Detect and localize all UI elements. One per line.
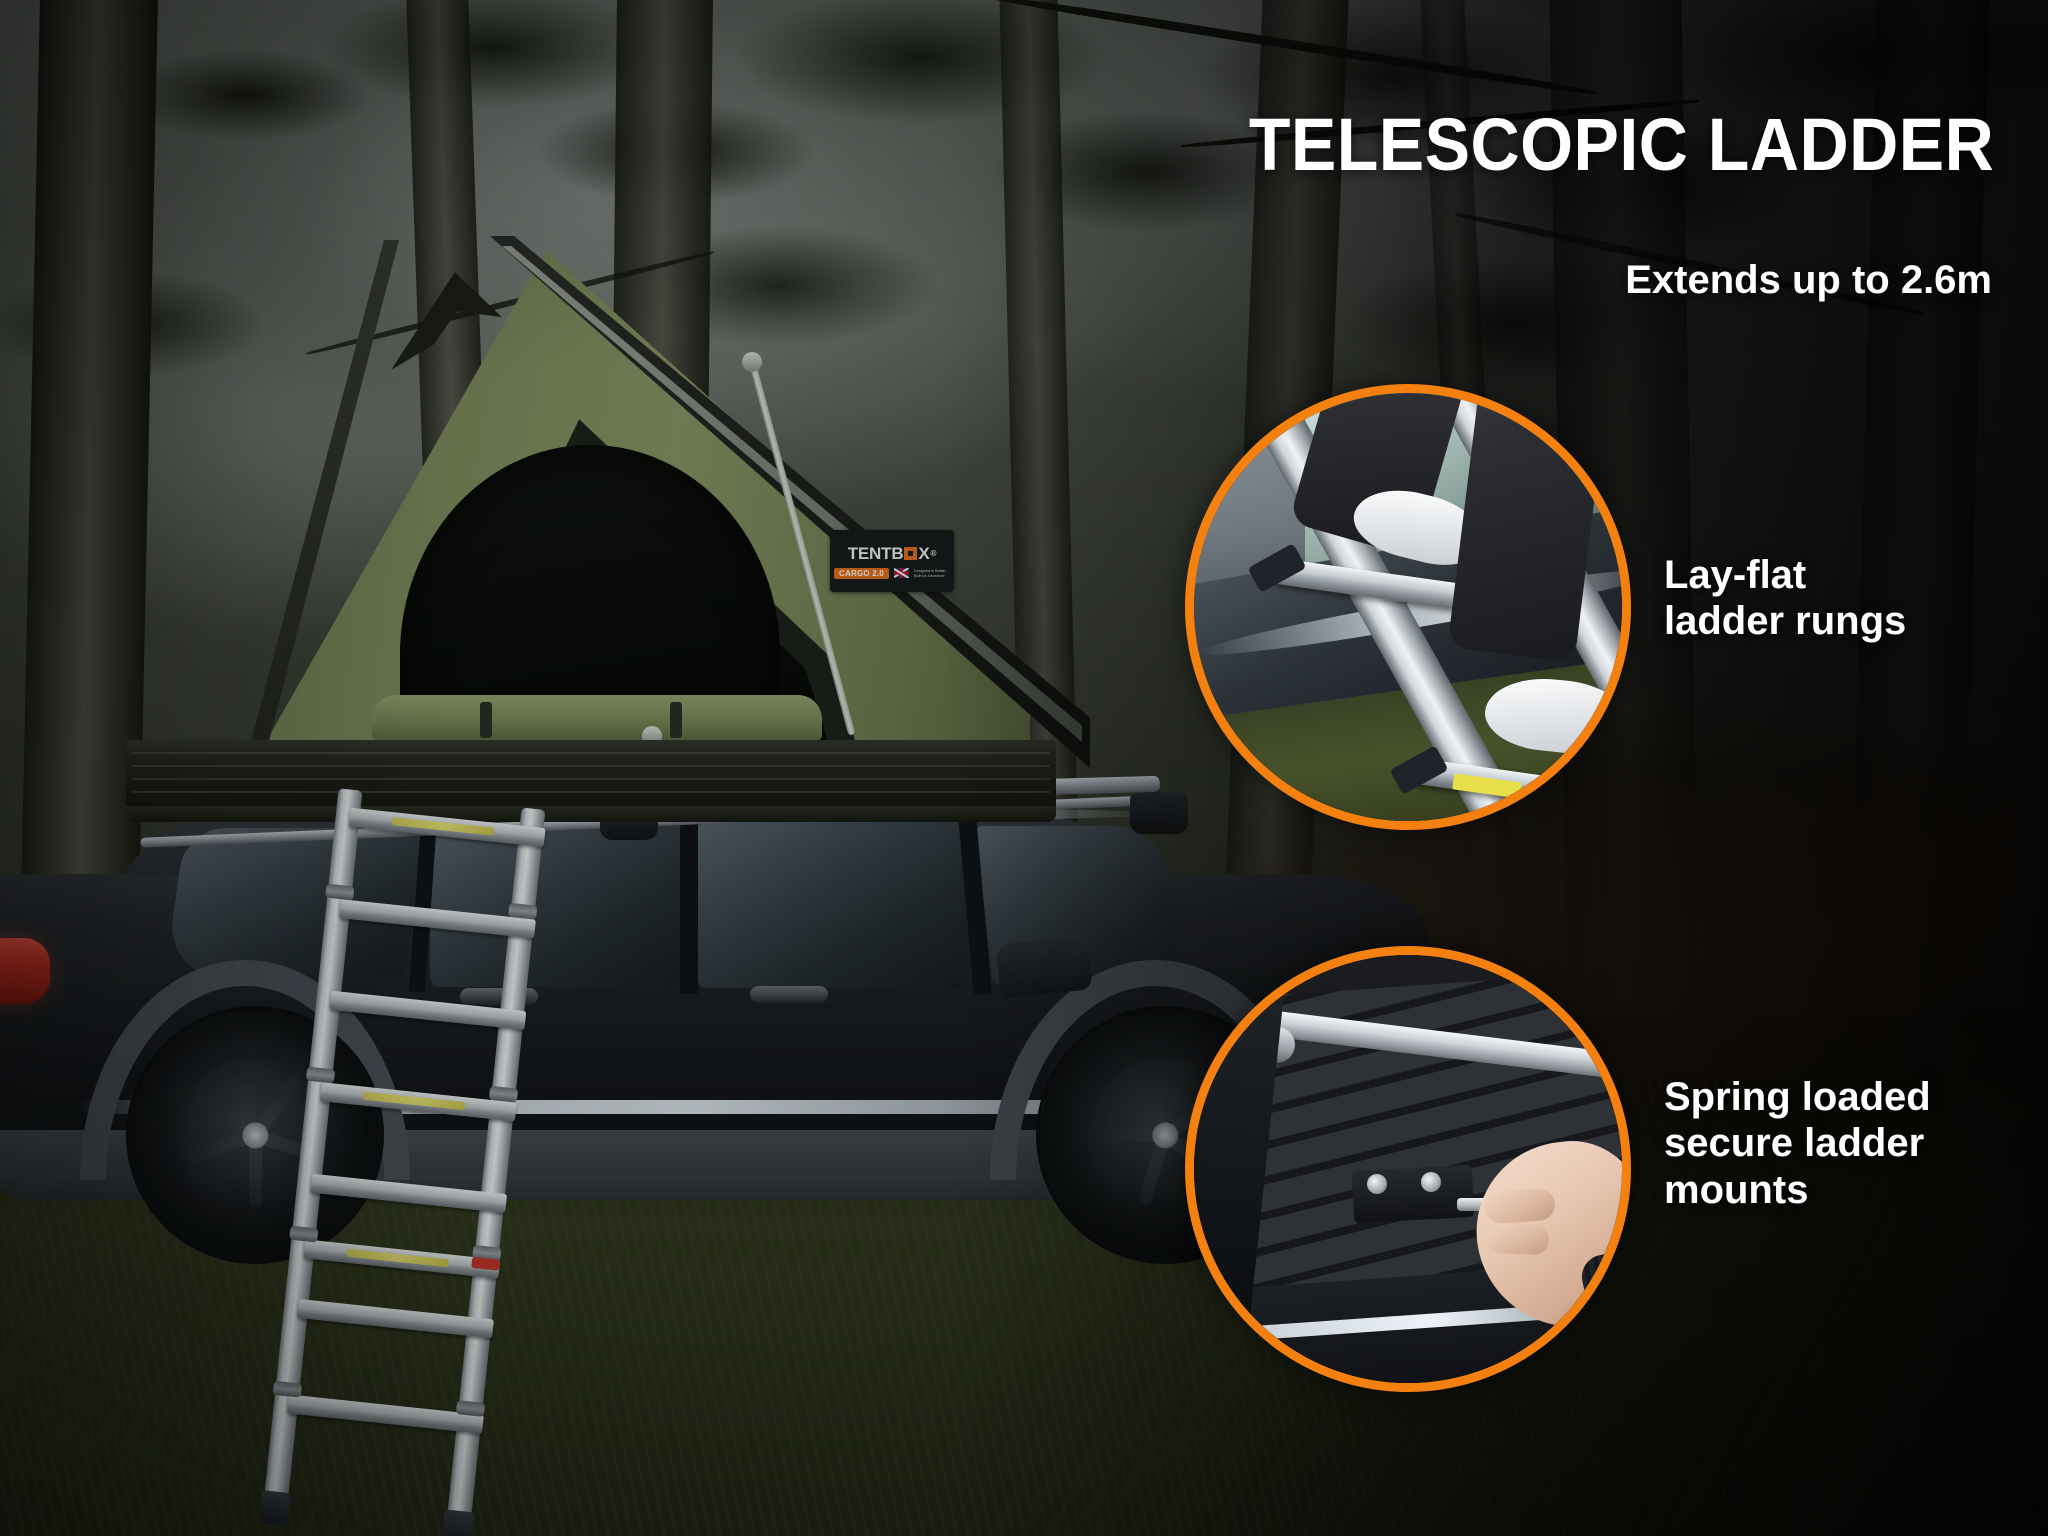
- detail-finger: [1486, 1223, 1549, 1255]
- car-pillar: [680, 818, 698, 994]
- tent-strap: [480, 702, 492, 738]
- union-jack-icon: [894, 568, 909, 578]
- ladder-section-joint: [289, 1226, 318, 1243]
- badge-second-row: CARGO 2.0 Designed in Britain Built for …: [834, 568, 950, 579]
- ladder-section-joint: [456, 1400, 485, 1417]
- model-pill: CARGO 2.0: [834, 568, 889, 579]
- ladder-rung: [320, 1082, 517, 1121]
- callout-photo-ladder-mount: [1185, 946, 1631, 1392]
- shell-ribs: [132, 752, 1050, 804]
- callout-label-lay-flat-rungs: Lay-flat ladder rungs: [1664, 552, 1906, 645]
- flag-cross-horizontal: [894, 572, 909, 575]
- ladder-rung: [297, 1299, 494, 1338]
- tent-strap: [670, 702, 682, 738]
- ladder-rung: [287, 1394, 484, 1433]
- roof-rack-foot: [1130, 792, 1188, 834]
- ladder-rung: [339, 899, 536, 938]
- callout-circle-spring-loaded-mounts: [1185, 946, 1631, 1392]
- page-subtitle: Extends up to 2.6m: [1625, 258, 1992, 303]
- callout-line: mounts: [1664, 1167, 1931, 1213]
- front-door-window: [698, 820, 966, 988]
- strut-mount: [742, 352, 762, 372]
- flag-cross-vertical: [900, 568, 903, 578]
- ladder-rung: [329, 991, 526, 1030]
- page-title: TELESCOPIC LADDER: [1249, 108, 1994, 182]
- ladder-section-joint: [306, 1067, 335, 1084]
- ladder-section-joint: [325, 884, 354, 901]
- ladder-foot: [441, 1509, 474, 1536]
- rung-warning-label: [347, 1249, 449, 1268]
- callout-line: secure ladder: [1664, 1120, 1931, 1166]
- detail-finger: [1484, 1188, 1556, 1225]
- callout-photo-ladder-rungs: [1185, 384, 1631, 830]
- callout-line: ladder rungs: [1664, 598, 1906, 644]
- callout-circle-lay-flat-rungs: [1185, 384, 1631, 830]
- brand-o-square-icon: [904, 547, 917, 560]
- rung-warning-label: [363, 1092, 465, 1111]
- trademark-symbol: ®: [931, 549, 937, 558]
- ladder-section-joint: [508, 903, 537, 920]
- ladder-foot: [258, 1490, 291, 1527]
- detail-mount-bolt: [1421, 1172, 1441, 1192]
- ladder-section-joint: [273, 1381, 302, 1398]
- ladder-rung: [310, 1174, 507, 1213]
- brand-wordmark: TENTB X ®: [848, 544, 937, 564]
- brand-text-right: X: [918, 544, 929, 564]
- badge-micro-text: Designed in Britain Built for Adventure: [914, 568, 950, 578]
- ladder-rung: [303, 1239, 500, 1278]
- wing-mirror: [995, 935, 1092, 998]
- callout-line: Lay-flat: [1664, 552, 1906, 598]
- detail-ladder-mount-bracket: [1352, 1165, 1475, 1223]
- tent-vent: [384, 272, 502, 370]
- tail-light: [0, 938, 50, 1004]
- ladder-rung: [349, 808, 546, 847]
- callout-label-spring-loaded-mounts: Spring loaded secure ladder mounts: [1664, 1074, 1931, 1213]
- micro-line-2: Built for Adventure: [914, 573, 945, 578]
- rung-warning-label: [392, 817, 494, 836]
- rooftop-tent: TENTB X ® CARGO 2.0 Designed in Britain …: [150, 240, 1030, 840]
- ladder-section-joint: [489, 1086, 518, 1103]
- detail-mount-bolt: [1367, 1174, 1387, 1194]
- tent-mattress: [372, 695, 822, 741]
- callout-line: Spring loaded: [1664, 1074, 1931, 1120]
- tentbox-brand-badge: TENTB X ® CARGO 2.0 Designed in Britain …: [830, 530, 954, 592]
- product-feature-image: TENTB X ® CARGO 2.0 Designed in Britain …: [0, 0, 2048, 1536]
- brand-text-left: TENTB: [848, 544, 904, 564]
- front-door-handle: [750, 986, 828, 1003]
